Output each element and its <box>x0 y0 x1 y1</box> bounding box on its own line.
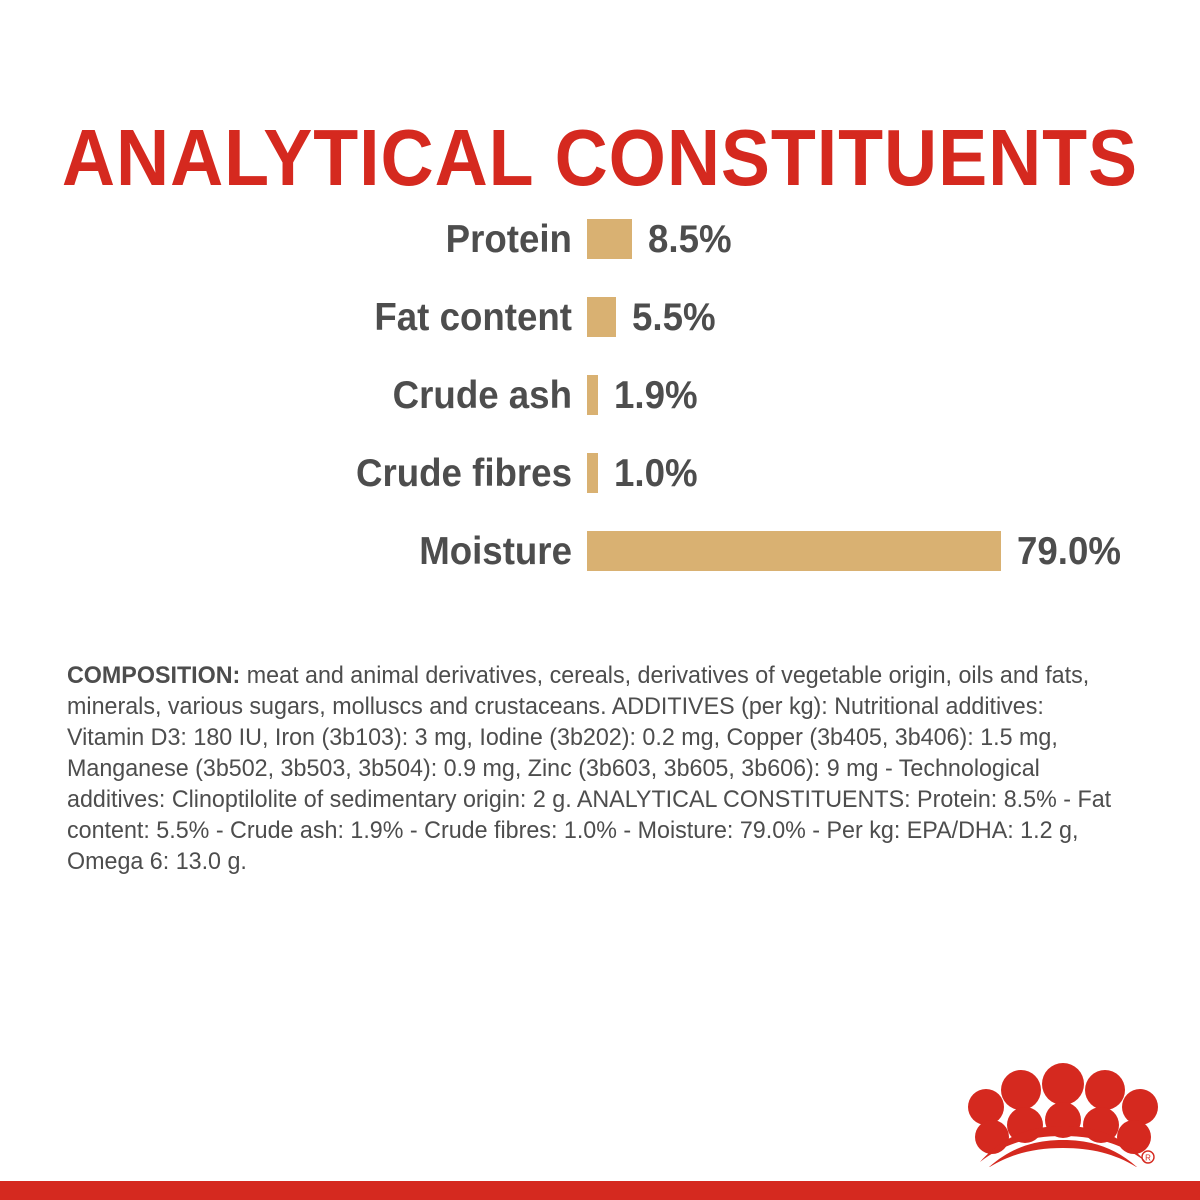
constituents-bar-chart: Protein 8.5% Fat content 5.5% Crude ash … <box>0 200 1200 590</box>
bar-track-fat-content: 5.5% <box>587 297 1200 337</box>
composition-paragraph: COMPOSITION: meat and animal derivatives… <box>67 660 1115 877</box>
table-row: Fat content 5.5% <box>0 278 1200 356</box>
svg-text:R: R <box>1145 1154 1151 1163</box>
composition-body-text: meat and animal derivatives, cereals, de… <box>67 662 1111 875</box>
table-row: Protein 8.5% <box>0 200 1200 278</box>
analytical-constituents-panel: ANALYTICAL CONSTITUENTS Protein 8.5% Fat… <box>0 0 1200 1200</box>
page-title: ANALYTICAL CONSTITUENTS <box>48 118 1152 198</box>
bar-value-crude-fibres: 1.0% <box>614 454 698 493</box>
table-row: Crude ash 1.9% <box>0 356 1200 434</box>
bar-label-protein: Protein <box>35 220 587 259</box>
bar-fill-protein <box>587 219 632 259</box>
bar-value-protein: 8.5% <box>648 220 732 259</box>
bar-value-fat-content: 5.5% <box>632 298 716 337</box>
table-row: Crude fibres 1.0% <box>0 434 1200 512</box>
bar-track-moisture: 79.0% <box>587 531 1200 571</box>
bottom-accent-bar <box>0 1181 1200 1200</box>
composition-lead-label: COMPOSITION: <box>67 662 240 689</box>
bar-track-crude-fibres: 1.0% <box>587 453 1200 493</box>
bar-fill-crude-fibres <box>587 453 598 493</box>
bar-fill-crude-ash <box>587 375 598 415</box>
bar-track-crude-ash: 1.9% <box>587 375 1200 415</box>
bar-label-moisture: Moisture <box>35 532 587 571</box>
bar-value-moisture: 79.0% <box>1017 532 1121 571</box>
bar-label-crude-ash: Crude ash <box>35 376 587 415</box>
bar-fill-moisture <box>587 531 1001 571</box>
bar-value-crude-ash: 1.9% <box>614 376 698 415</box>
bar-label-fat-content: Fat content <box>35 298 587 337</box>
bar-fill-fat-content <box>587 297 616 337</box>
bar-track-protein: 8.5% <box>587 219 1200 259</box>
bar-label-crude-fibres: Crude fibres <box>35 454 587 493</box>
table-row: Moisture 79.0% <box>0 512 1200 590</box>
royal-canin-crown-logo: R <box>968 1062 1158 1167</box>
